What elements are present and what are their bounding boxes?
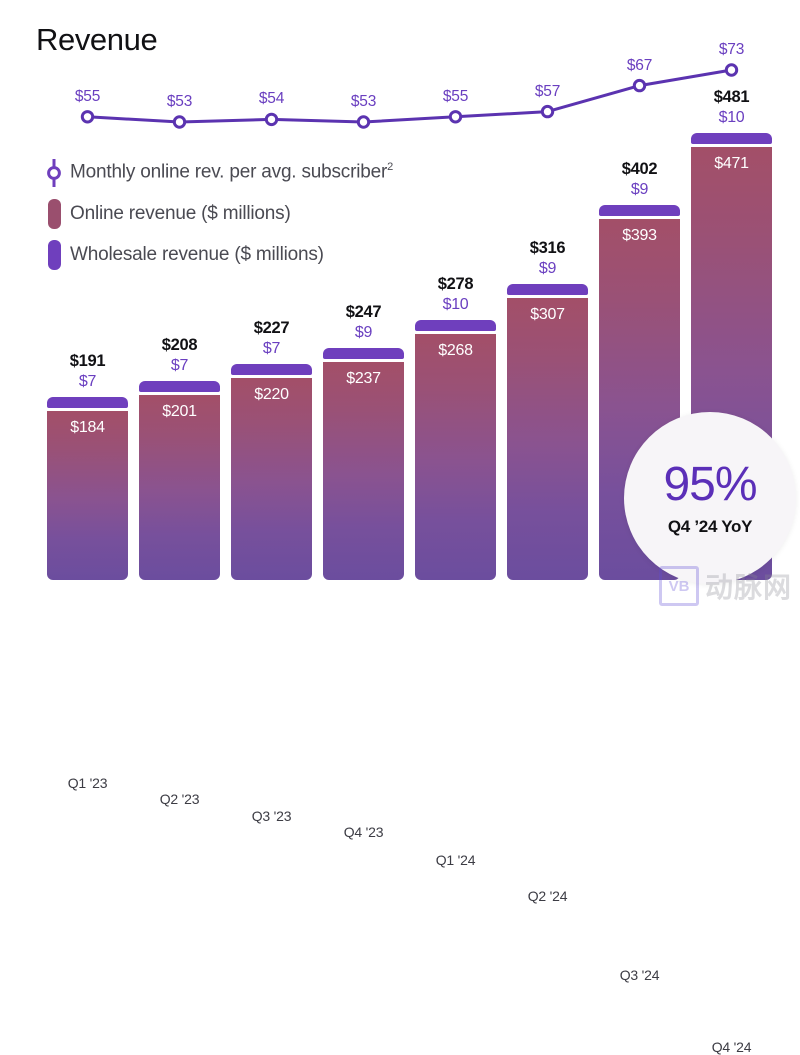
bar-segment-online[interactable] bbox=[231, 378, 312, 580]
bar-online-label: $184 bbox=[70, 419, 104, 437]
bar-group[interactable]: $247$9$237Q4 '23 bbox=[323, 348, 404, 580]
yoy-badge: 95% Q4 ’24 YoY bbox=[624, 412, 796, 584]
badge-caption: Q4 ’24 YoY bbox=[668, 517, 752, 537]
bar-online-label: $268 bbox=[438, 342, 472, 360]
bar-total-label: $402 bbox=[622, 160, 658, 179]
bar-total-label: $481 bbox=[714, 88, 750, 107]
x-axis-label: Q1 '24 bbox=[436, 852, 476, 868]
bar-group[interactable]: $278$10$268Q1 '24 bbox=[415, 320, 496, 580]
bar-online-label: $237 bbox=[346, 370, 380, 388]
bar-segment-online[interactable] bbox=[507, 298, 588, 580]
bar-segment-online[interactable] bbox=[139, 395, 220, 580]
x-axis-label: Q2 '23 bbox=[160, 791, 200, 807]
bar-online-label: $471 bbox=[714, 155, 748, 173]
bar-total-label: $191 bbox=[70, 352, 106, 371]
bar-total-label: $316 bbox=[530, 239, 566, 258]
bar-segment-online[interactable] bbox=[323, 362, 404, 580]
x-axis-label: Q2 '24 bbox=[528, 888, 568, 904]
bar-group[interactable]: $227$7$220Q3 '23 bbox=[231, 364, 312, 580]
x-axis-label: Q1 '23 bbox=[68, 775, 108, 791]
bar-wholesale-label: $9 bbox=[355, 324, 372, 342]
bar-group[interactable]: $316$9$307Q2 '24 bbox=[507, 284, 588, 580]
bar-online-label: $307 bbox=[530, 306, 564, 324]
bar-wholesale-label: $9 bbox=[631, 181, 648, 199]
bar-wholesale-label: $10 bbox=[443, 296, 469, 314]
bar-segment-wholesale[interactable] bbox=[691, 133, 772, 144]
bar-segment-online[interactable] bbox=[415, 334, 496, 580]
x-axis-label: Q3 '23 bbox=[252, 808, 292, 824]
bar-wholesale-label: $7 bbox=[171, 357, 188, 375]
badge-value: 95% bbox=[663, 459, 756, 511]
x-axis-label: Q3 '24 bbox=[620, 967, 660, 983]
bar-online-label: $220 bbox=[254, 386, 288, 404]
bar-segment-wholesale[interactable] bbox=[507, 284, 588, 295]
bar-group[interactable]: $208$7$201Q2 '23 bbox=[139, 381, 220, 580]
x-axis-label: Q4 '23 bbox=[344, 824, 384, 840]
revenue-chart: Revenue $55$53$54$53$55$57$67$73 Monthly… bbox=[0, 0, 800, 628]
bar-wholesale-label: $9 bbox=[539, 260, 556, 278]
bar-wholesale-label: $7 bbox=[79, 373, 96, 391]
bar-segment-wholesale[interactable] bbox=[415, 320, 496, 331]
bar-total-label: $247 bbox=[346, 303, 382, 322]
bar-online-label: $201 bbox=[162, 403, 196, 421]
bar-segment-wholesale[interactable] bbox=[231, 364, 312, 375]
bar-total-label: $278 bbox=[438, 275, 474, 294]
bar-wholesale-label: $10 bbox=[719, 109, 745, 127]
bar-total-label: $227 bbox=[254, 319, 290, 338]
bar-online-label: $393 bbox=[622, 227, 656, 245]
x-axis-label: Q4 '24 bbox=[712, 1039, 752, 1055]
bar-wholesale-label: $7 bbox=[263, 340, 280, 358]
bar-segment-wholesale[interactable] bbox=[47, 397, 128, 408]
bar-segment-wholesale[interactable] bbox=[599, 205, 680, 216]
bar-group[interactable]: $191$7$184Q1 '23 bbox=[47, 397, 128, 580]
bar-segment-wholesale[interactable] bbox=[323, 348, 404, 359]
bar-segment-wholesale[interactable] bbox=[139, 381, 220, 392]
bar-total-label: $208 bbox=[162, 336, 198, 355]
